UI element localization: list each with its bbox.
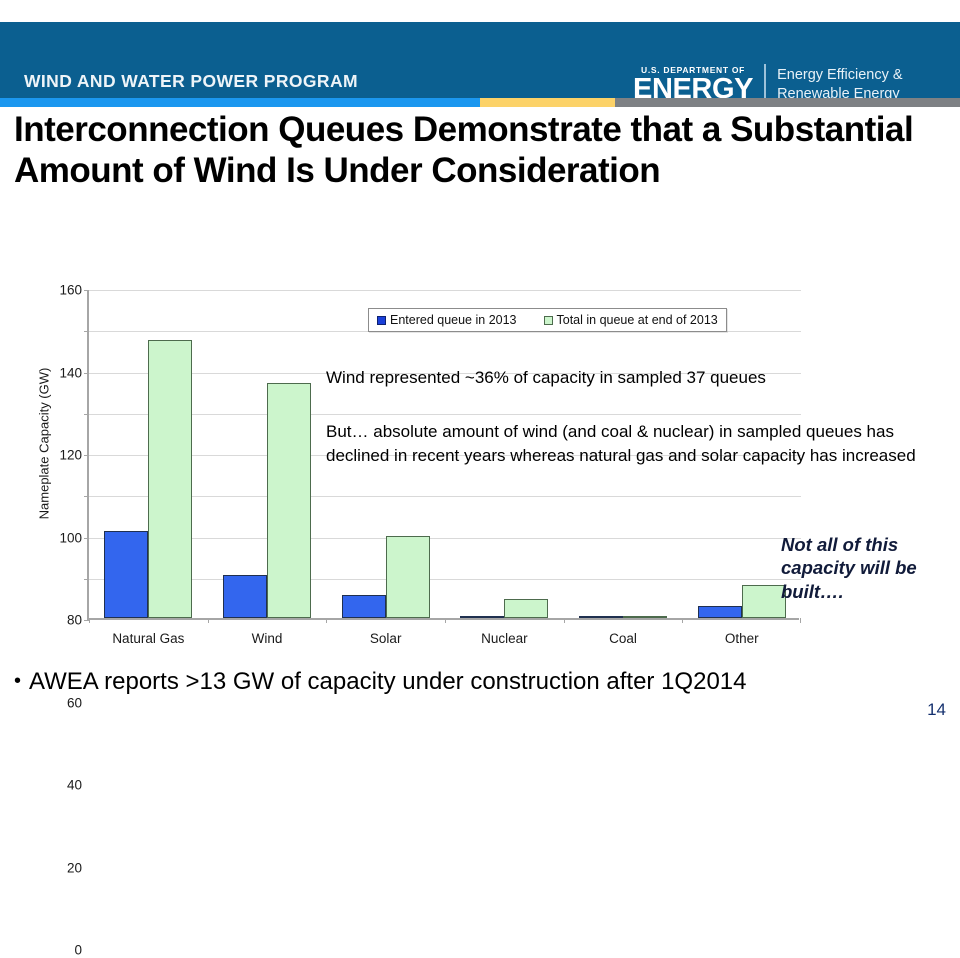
chart-bar bbox=[460, 616, 504, 618]
chart-bar bbox=[623, 616, 667, 618]
accent-bar-gray bbox=[615, 98, 960, 107]
legend-item-entered-queue: Entered queue in 2013 bbox=[377, 313, 517, 327]
chart-legend: Entered queue in 2013 Total in queue at … bbox=[368, 308, 727, 332]
x-axis-category-label: Wind bbox=[208, 631, 327, 646]
y-axis-tick-label: 40 bbox=[67, 778, 89, 793]
annotation-wind-share: Wind represented ~36% of capacity in sam… bbox=[326, 368, 766, 388]
y-axis-tick-label: 60 bbox=[67, 695, 89, 710]
x-axis-tick-mark bbox=[682, 618, 683, 623]
x-axis-tick-mark bbox=[326, 618, 327, 623]
slide-title: Interconnection Queues Demonstrate that … bbox=[14, 110, 944, 191]
x-axis-category-label: Natural Gas bbox=[89, 631, 208, 646]
y-axis-tick-label: 120 bbox=[59, 448, 89, 463]
x-axis-tick-mark bbox=[89, 618, 90, 623]
chart-bar bbox=[148, 340, 192, 618]
y-axis-tick-label: 140 bbox=[59, 365, 89, 380]
legend-swatch-icon-green bbox=[544, 316, 553, 325]
program-title: WIND AND WATER POWER PROGRAM bbox=[24, 71, 358, 92]
chart-category-group: Wind bbox=[208, 288, 327, 618]
x-axis-tick-mark bbox=[208, 618, 209, 623]
x-axis-category-label: Coal bbox=[564, 631, 683, 646]
annotation-caveat: Not all of this capacity will be built…. bbox=[781, 533, 956, 603]
annotation-trend: But… absolute amount of wind (and coal &… bbox=[326, 420, 926, 468]
legend-swatch-icon-blue bbox=[377, 316, 386, 325]
legend-label-entered-queue: Entered queue in 2013 bbox=[390, 313, 517, 327]
doe-tagline-line-1: Energy Efficiency & bbox=[777, 66, 902, 85]
chart-bar bbox=[223, 575, 267, 618]
x-axis-tick-mark bbox=[564, 618, 565, 623]
y-axis-tick-label: 0 bbox=[74, 943, 89, 958]
x-axis-category-label: Solar bbox=[326, 631, 445, 646]
chart-bar bbox=[386, 536, 430, 619]
y-axis-tick-label: 100 bbox=[59, 530, 89, 545]
accent-bar-blue bbox=[0, 98, 480, 107]
legend-label-total-queue: Total in queue at end of 2013 bbox=[557, 313, 718, 327]
accent-bar-gold bbox=[480, 98, 615, 107]
chart-category-group: Natural Gas bbox=[89, 288, 208, 618]
bullet-marker-icon: • bbox=[14, 668, 21, 691]
chart-bar bbox=[742, 585, 786, 618]
chart-bar bbox=[579, 616, 623, 618]
slide-number: 14 bbox=[927, 700, 946, 720]
x-axis-category-label: Nuclear bbox=[445, 631, 564, 646]
accent-bar-row bbox=[0, 98, 960, 107]
chart-bar bbox=[504, 599, 548, 618]
y-axis-title: Nameplate Capacity (GW) bbox=[37, 299, 52, 589]
footer-bullet-text: AWEA reports >13 GW of capacity under co… bbox=[29, 668, 746, 696]
footer-bullet: • AWEA reports >13 GW of capacity under … bbox=[14, 668, 746, 696]
chart-bar bbox=[104, 531, 148, 618]
x-axis-tick-mark bbox=[800, 618, 801, 623]
chart-bar bbox=[342, 595, 386, 618]
y-axis-tick-label: 20 bbox=[67, 860, 89, 875]
chart-bar bbox=[698, 606, 742, 618]
x-axis-tick-mark bbox=[445, 618, 446, 623]
y-axis-tick-label: 80 bbox=[67, 613, 89, 628]
legend-item-total-queue: Total in queue at end of 2013 bbox=[544, 313, 718, 327]
chart-bar bbox=[267, 383, 311, 618]
header-band: WIND AND WATER POWER PROGRAM U.S. DEPART… bbox=[0, 22, 960, 98]
x-axis-category-label: Other bbox=[682, 631, 801, 646]
